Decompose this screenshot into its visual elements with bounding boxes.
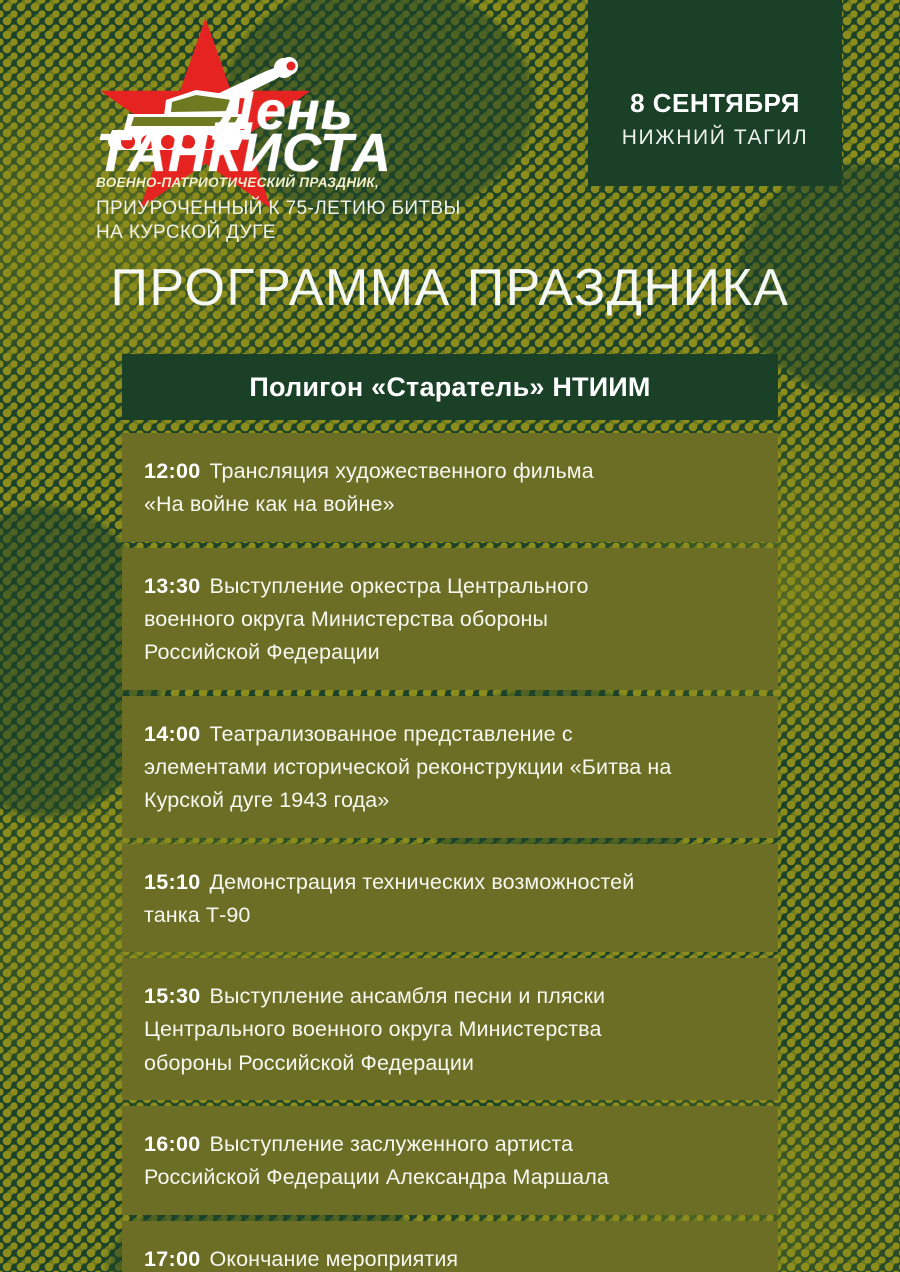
schedule-description: Театрализованное представление с [210,722,573,746]
schedule-line: 14:00Театрализованное представление с [144,718,756,751]
schedule-row: 15:30Выступление ансамбля песни и пляски… [122,958,778,1100]
schedule-description: Трансляция художественного фильма [210,459,594,483]
tagline-line-3: НА КУРСКОЙ ДУГЕ [96,221,556,245]
schedule-line: танка Т-90 [144,899,756,932]
schedule-line: элементами исторической реконструкции «Б… [144,751,756,784]
poster-root: День ТАНКИСТА ВОЕННО-ПАТРИОТИЧЕСКИЙ ПРАЗ… [0,0,900,1272]
schedule-row: 13:30Выступление оркестра Центральногово… [122,548,778,690]
schedule-line: 12:00Трансляция художественного фильма [144,455,756,488]
schedule-description: элементами исторической реконструкции «Б… [144,755,671,779]
tagline-line-2: ПРИУРОЧЕННЫЙ К 75-ЛЕТИЮ БИТВЫ [96,197,556,221]
poster-header: День ТАНКИСТА ВОЕННО-ПАТРИОТИЧЕСКИЙ ПРАЗ… [0,0,900,250]
schedule-row: 14:00Театрализованное представление сэле… [122,696,778,838]
schedule-time: 17:00 [144,1247,201,1271]
schedule-line: 16:00Выступление заслуженного артиста [144,1128,756,1161]
venue-label: Полигон «Старатель» НТИИМ [249,372,650,403]
schedule-description: «На войне как на войне» [144,492,395,516]
venue-band: Полигон «Старатель» НТИИМ [122,354,778,420]
schedule-row: 16:00Выступление заслуженного артистаРос… [122,1106,778,1215]
schedule-time: 14:00 [144,722,201,746]
schedule-line: Российской Федерации Александра Маршала [144,1161,756,1194]
schedule-time: 15:30 [144,984,201,1008]
schedule-time: 15:10 [144,870,201,894]
schedule-description: обороны Российской Федерации [144,1051,474,1075]
schedule-line: 17:00Окончание мероприятия [144,1243,756,1272]
schedule-line: «На войне как на войне» [144,488,756,521]
schedule-description: Российской Федерации Александра Маршала [144,1165,609,1189]
schedule-line: Курской дуге 1943 года» [144,784,756,817]
schedule-description: военного округа Министерства обороны [144,607,548,631]
schedule-line: обороны Российской Федерации [144,1047,756,1080]
schedule-line: военного округа Министерства обороны [144,603,756,636]
tagline-line-1: ВОЕННО-ПАТРИОТИЧЕСКИЙ ПРАЗДНИК, [96,176,556,191]
schedule-description: Курской дуге 1943 года» [144,788,389,812]
schedule-row: 15:10Демонстрация технических возможност… [122,844,778,953]
event-logo: День ТАНКИСТА [88,18,418,178]
schedule-description: Демонстрация технических возможностей [210,870,635,894]
schedule-row: 12:00Трансляция художественного фильма«Н… [122,433,778,542]
event-tagline: ВОЕННО-ПАТРИОТИЧЕСКИЙ ПРАЗДНИК, ПРИУРОЧЕ… [96,176,556,244]
schedule-time: 13:30 [144,574,201,598]
schedule-row: 17:00Окончание мероприятия [122,1221,778,1272]
schedule-time: 16:00 [144,1132,201,1156]
schedule-description: Окончание мероприятия [210,1247,459,1271]
event-date: 8 СЕНТЯБРЯ [630,88,800,119]
schedule-line: Российской Федерации [144,636,756,669]
schedule-description: Выступление ансамбля песни и пляски [210,984,606,1008]
schedule-line: 15:30Выступление ансамбля песни и пляски [144,980,756,1013]
schedule-description: Выступление оркестра Центрального [210,574,589,598]
schedule-description: Центрального военного округа Министерств… [144,1017,602,1041]
schedule-line: Центрального военного округа Министерств… [144,1013,756,1046]
page-title: ПРОГРАММА ПРАЗДНИКА [0,258,900,318]
schedule-line: 15:10Демонстрация технических возможност… [144,866,756,899]
schedule-description: танка Т-90 [144,903,250,927]
schedule-line: 13:30Выступление оркестра Центрального [144,570,756,603]
event-city: НИЖНИЙ ТАГИЛ [622,126,808,150]
schedule-list: 12:00Трансляция художественного фильма«Н… [122,433,778,1272]
schedule-description: Выступление заслуженного артиста [210,1132,574,1156]
date-location-panel: 8 СЕНТЯБРЯ НИЖНИЙ ТАГИЛ [588,0,842,186]
schedule-description: Российской Федерации [144,640,380,664]
schedule-time: 12:00 [144,459,201,483]
